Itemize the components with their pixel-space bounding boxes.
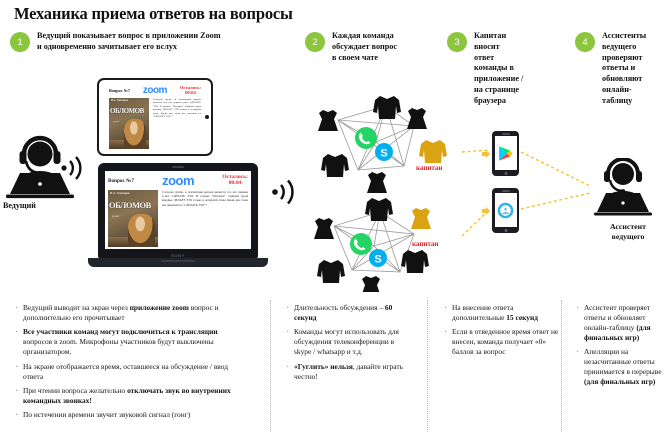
step-label-3: Капитан вносит ответ команды в приложени… <box>474 31 523 107</box>
zoom-logo-laptop: zoom <box>162 173 194 188</box>
question-number-laptop: Вопрос №7 <box>108 178 134 184</box>
book-title-laptop: ОБЛОМОВ <box>109 201 151 209</box>
bullet-item: Ассистент проверяет ответы и обновляет о… <box>575 303 670 343</box>
svg-text:S: S <box>380 148 387 160</box>
captain-silhouette-2 <box>411 208 431 229</box>
step-header-2: 2 Каждая команда обсуждает вопрос в свое… <box>305 31 445 63</box>
blue-app-icon <box>497 202 514 219</box>
bullet-item: Команды могут использовать для обсуждени… <box>285 327 405 357</box>
step-number-3: 3 <box>447 32 467 52</box>
step-header-4: 4 Ассистенты ведущего проверяют ответы и… <box>575 31 670 107</box>
bullet-item: Апелляции на незасчитанные ответы приним… <box>575 347 670 387</box>
bullet-item: На экране отображается время, оставшееся… <box>14 362 242 382</box>
bullet-list-1: Ведущий выводит на экран через приложени… <box>14 303 242 420</box>
assistant-figure-icon <box>592 158 658 216</box>
book-author-laptop: И.А. Гончаров <box>110 191 130 195</box>
timer-laptop: Осталось: 00:04 <box>222 175 248 187</box>
step-label-2: Каждая команда обсуждает вопрос в своем … <box>332 31 397 63</box>
laptop-brand-mark: SONY <box>171 253 185 258</box>
phone-screen-2 <box>495 193 517 227</box>
phone-app-browser[interactable] <box>492 188 519 233</box>
bullet-item: Длительность обсуждения – 60 секунд <box>285 303 405 323</box>
bullet-column-discussion-rules: Длительность обсуждения – 60 секундКоман… <box>285 303 405 386</box>
whatsapp-icon <box>350 233 372 255</box>
captain-label-1: капитан <box>416 164 442 172</box>
book-cover-tablet: И.А. Гончаров ОБЛОМОВ роман <box>109 98 149 149</box>
google-play-icon <box>497 145 514 162</box>
laptop-device: Вопрос №7 zoom Осталось: 00:04 И.А. Гонч… <box>88 163 268 273</box>
arrow-icon-to-phone-2 <box>482 207 490 215</box>
bullet-column-assistant-rules: Ассистент проверяет ответы и обновляет о… <box>575 303 670 391</box>
book-subtitle-tablet: роман <box>113 120 119 123</box>
tablet-zoom-screen: Вопрос №7 zoom Осталось: 00:04 И.А. Гонч… <box>106 83 204 151</box>
question-number-tablet: Вопрос №7 <box>109 88 130 93</box>
laptop-base <box>88 258 268 267</box>
question-text-tablet: Согласно шутке, в психиатрии врачом явля… <box>153 98 201 149</box>
team-chat-network-1: S <box>310 92 462 194</box>
bullet-column-answer-rules: На внесение ответа дополнительные 15 сек… <box>443 303 563 362</box>
step-header-1: 1 Ведущий показывает вопрос в приложении… <box>10 31 290 53</box>
column-divider-1 <box>270 300 271 432</box>
step-label-4: Ассистенты ведущего проверяют ответы и о… <box>602 31 646 107</box>
bullet-item: На внесение ответа дополнительные 15 сек… <box>443 303 563 323</box>
laptop-zoom-screen: Вопрос №7 zoom Осталось: 00:04 И.А. Гонч… <box>105 171 251 249</box>
skype-icon: S <box>375 143 393 161</box>
whatsapp-icon <box>355 127 377 149</box>
bullet-item: Если в отведенное время ответ не внесен,… <box>443 327 563 357</box>
bullet-item: Ведущий выводит на экран через приложени… <box>14 303 242 323</box>
question-text-laptop: Согласно шутке, в психиатрии врачом явля… <box>162 190 248 247</box>
book-cover-laptop: И.А. Гончаров ОБЛОМОВ роман <box>108 190 158 247</box>
tablet-device: Вопрос №7 zoom Осталось: 00:04 И.А. Гонч… <box>97 78 213 156</box>
timer-tablet: Осталось: 00:04 <box>180 86 201 96</box>
bullet-item: По истечении времени звучит звуковой сиг… <box>14 410 242 420</box>
bullet-column-host-rules: Ведущий выводит на экран через приложени… <box>14 303 242 425</box>
sound-wave-icon-right <box>271 178 301 206</box>
bullet-list-4: Ассистент проверяет ответы и обновляет о… <box>575 303 670 387</box>
bullet-item: При чтении вопроса желательно отключать … <box>14 386 242 406</box>
skype-icon: S <box>369 249 387 267</box>
step-label-1: Ведущий показывает вопрос в приложении Z… <box>37 31 221 53</box>
step-header-3: 3 Капитан вносит ответ команды в приложе… <box>447 31 552 107</box>
book-author-tablet: И.А. Гончаров <box>111 99 128 102</box>
bullet-item: «Гуглить» нельзя, давайте играть честно! <box>285 362 405 382</box>
svg-text:S: S <box>374 254 381 266</box>
book-cover-figure-laptop <box>128 214 156 247</box>
captain-label-2: капитан <box>412 240 438 248</box>
timer-value-tablet: 00:04 <box>185 90 196 95</box>
book-title-tablet: ОБЛОМОВ <box>110 108 144 115</box>
phone-screen-1 <box>495 136 517 170</box>
assistant-label: Ассистент ведущего <box>588 222 668 241</box>
bullet-list-3: На внесение ответа дополнительные 15 сек… <box>443 303 563 357</box>
sound-wave-icon-left <box>60 155 88 181</box>
step-number-2: 2 <box>305 32 325 52</box>
arrow-icon-to-phone-1 <box>482 150 490 158</box>
host-label: Ведущий <box>3 201 36 210</box>
book-subtitle-laptop: роман <box>112 215 119 218</box>
bullet-list-2: Длительность обсуждения – 60 секундКоман… <box>285 303 405 381</box>
laptop-camera-icon <box>172 166 184 168</box>
zoom-logo-tablet: zoom <box>143 85 167 96</box>
captain-silhouette-1 <box>419 140 447 163</box>
timer-value-laptop: 00:04 <box>229 180 242 186</box>
laptop-lid: Вопрос №7 zoom Осталось: 00:04 И.А. Гонч… <box>98 163 258 259</box>
step-number-4: 4 <box>575 32 595 52</box>
step-number-1: 1 <box>10 32 30 52</box>
phone-google-play[interactable] <box>492 131 519 176</box>
page-title: Механика приема ответов на вопросы <box>14 4 293 24</box>
book-cover-figure <box>124 119 146 149</box>
column-divider-2 <box>427 300 428 432</box>
bullet-item: Все участники команд могут подключиться … <box>14 327 242 357</box>
